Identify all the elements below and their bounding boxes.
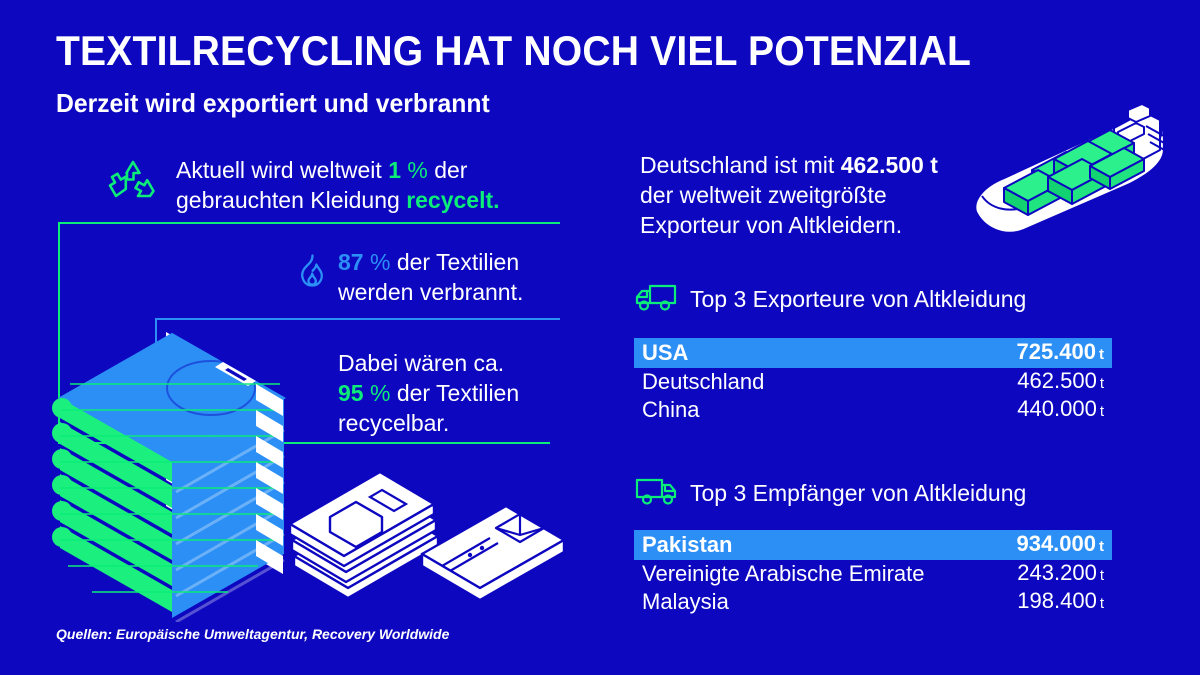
row-country: Vereinigte Arabische Emirate: [642, 560, 925, 588]
fact-recycled-text: Aktuell wird weltweit 1 % der gebrauchte…: [176, 155, 576, 215]
fact-recyclable-line1: Dabei wären ca.: [338, 350, 504, 376]
table-row[interactable]: Pakistan 934.000t: [634, 530, 1112, 560]
recipients-table: Pakistan 934.000t Vereinigte Arabische E…: [634, 530, 1112, 616]
table-row[interactable]: Malaysia 198.400t: [634, 588, 1112, 616]
flame-icon: [297, 252, 327, 295]
exporters-heading-row: Top 3 Exporteure von Altkleidung: [634, 282, 1026, 316]
connector-blue-top: [155, 318, 560, 320]
row-country: Malaysia: [642, 588, 729, 616]
exporters-heading: Top 3 Exporteure von Altkleidung: [690, 288, 1026, 311]
germany-export-pre: Deutschland ist mit: [640, 152, 841, 178]
row-value: 462.500t: [1017, 367, 1104, 398]
row-country: Pakistan: [642, 531, 733, 559]
fact-burned-text: 87 % der Textilien werden verbrannt.: [338, 247, 578, 307]
fact-recyclable-text: Dabei wären ca. 95 % der Textilien recyc…: [338, 348, 578, 438]
fact-recyclable-value: 95: [338, 380, 364, 406]
fact-burned-value: 87: [338, 249, 364, 275]
table-row[interactable]: USA 725.400t: [634, 338, 1112, 368]
connector-green-top: [58, 222, 560, 224]
row-value: 934.000t: [1016, 530, 1104, 561]
recipients-heading-row: Top 3 Empfänger von Altkleidung: [634, 476, 1026, 510]
fact-burned-unit: %: [370, 249, 390, 275]
row-value: 198.400t: [1017, 587, 1104, 618]
fact-burned-line2: werden verbrannt.: [338, 279, 523, 305]
row-value: 440.000t: [1017, 395, 1104, 426]
fact-recycled-value: 1: [388, 157, 401, 183]
table-row[interactable]: Deutschland 462.500t: [634, 368, 1112, 396]
fact-recyclable-line3: recycelbar.: [338, 410, 449, 436]
row-country: China: [642, 396, 699, 424]
truck-right-icon: [634, 476, 678, 510]
source-note: Quellen: Europäische Umweltagentur, Reco…: [56, 626, 449, 642]
textile-stack-illustration: [48, 322, 298, 627]
row-country: Deutschland: [642, 368, 764, 396]
infographic-canvas: TEXTILRECYCLING HAT NOCH VIEL POTENZIAL …: [0, 0, 1200, 675]
row-value: 725.400t: [1016, 338, 1104, 369]
table-row[interactable]: China 440.000t: [634, 396, 1112, 424]
fact-recyclable-unit: %: [370, 380, 390, 406]
fact-recycled-accent: recycelt.: [406, 187, 499, 213]
germany-export-line2: der weltweit zweitgrößte: [640, 182, 887, 208]
fact-recycled-line1-post: der: [428, 157, 468, 183]
truck-left-icon: [634, 282, 678, 316]
page-title: TEXTILRECYCLING HAT NOCH VIEL POTENZIAL: [56, 30, 971, 72]
row-value: 243.200t: [1017, 559, 1104, 590]
fact-recycled-line2-pre: gebrauchten Kleidung: [176, 187, 406, 213]
germany-export-line3: Exporteur von Altkleidern.: [640, 212, 902, 238]
fact-burned-line1-post: der Textilien: [390, 249, 519, 275]
exporters-table: USA 725.400t Deutschland 462.500t China …: [634, 338, 1112, 424]
fact-recycled-unit: %: [407, 157, 427, 183]
page-subtitle: Derzeit wird exportiert und verbrannt: [56, 90, 490, 116]
recycling-icon: [108, 158, 158, 209]
fact-recycled-line1-pre: Aktuell wird weltweit: [176, 157, 388, 183]
folded-shirt-illustration: [418, 492, 568, 609]
germany-export-statement: Deutschland ist mit 462.500 t der weltwe…: [640, 150, 1000, 240]
germany-export-value: 462.500 t: [841, 152, 938, 178]
fact-recyclable-line2-post: der Textilien: [390, 380, 519, 406]
table-row[interactable]: Vereinigte Arabische Emirate 243.200t: [634, 560, 1112, 588]
recipients-heading: Top 3 Empfänger von Altkleidung: [690, 482, 1026, 505]
row-country: USA: [642, 339, 688, 367]
